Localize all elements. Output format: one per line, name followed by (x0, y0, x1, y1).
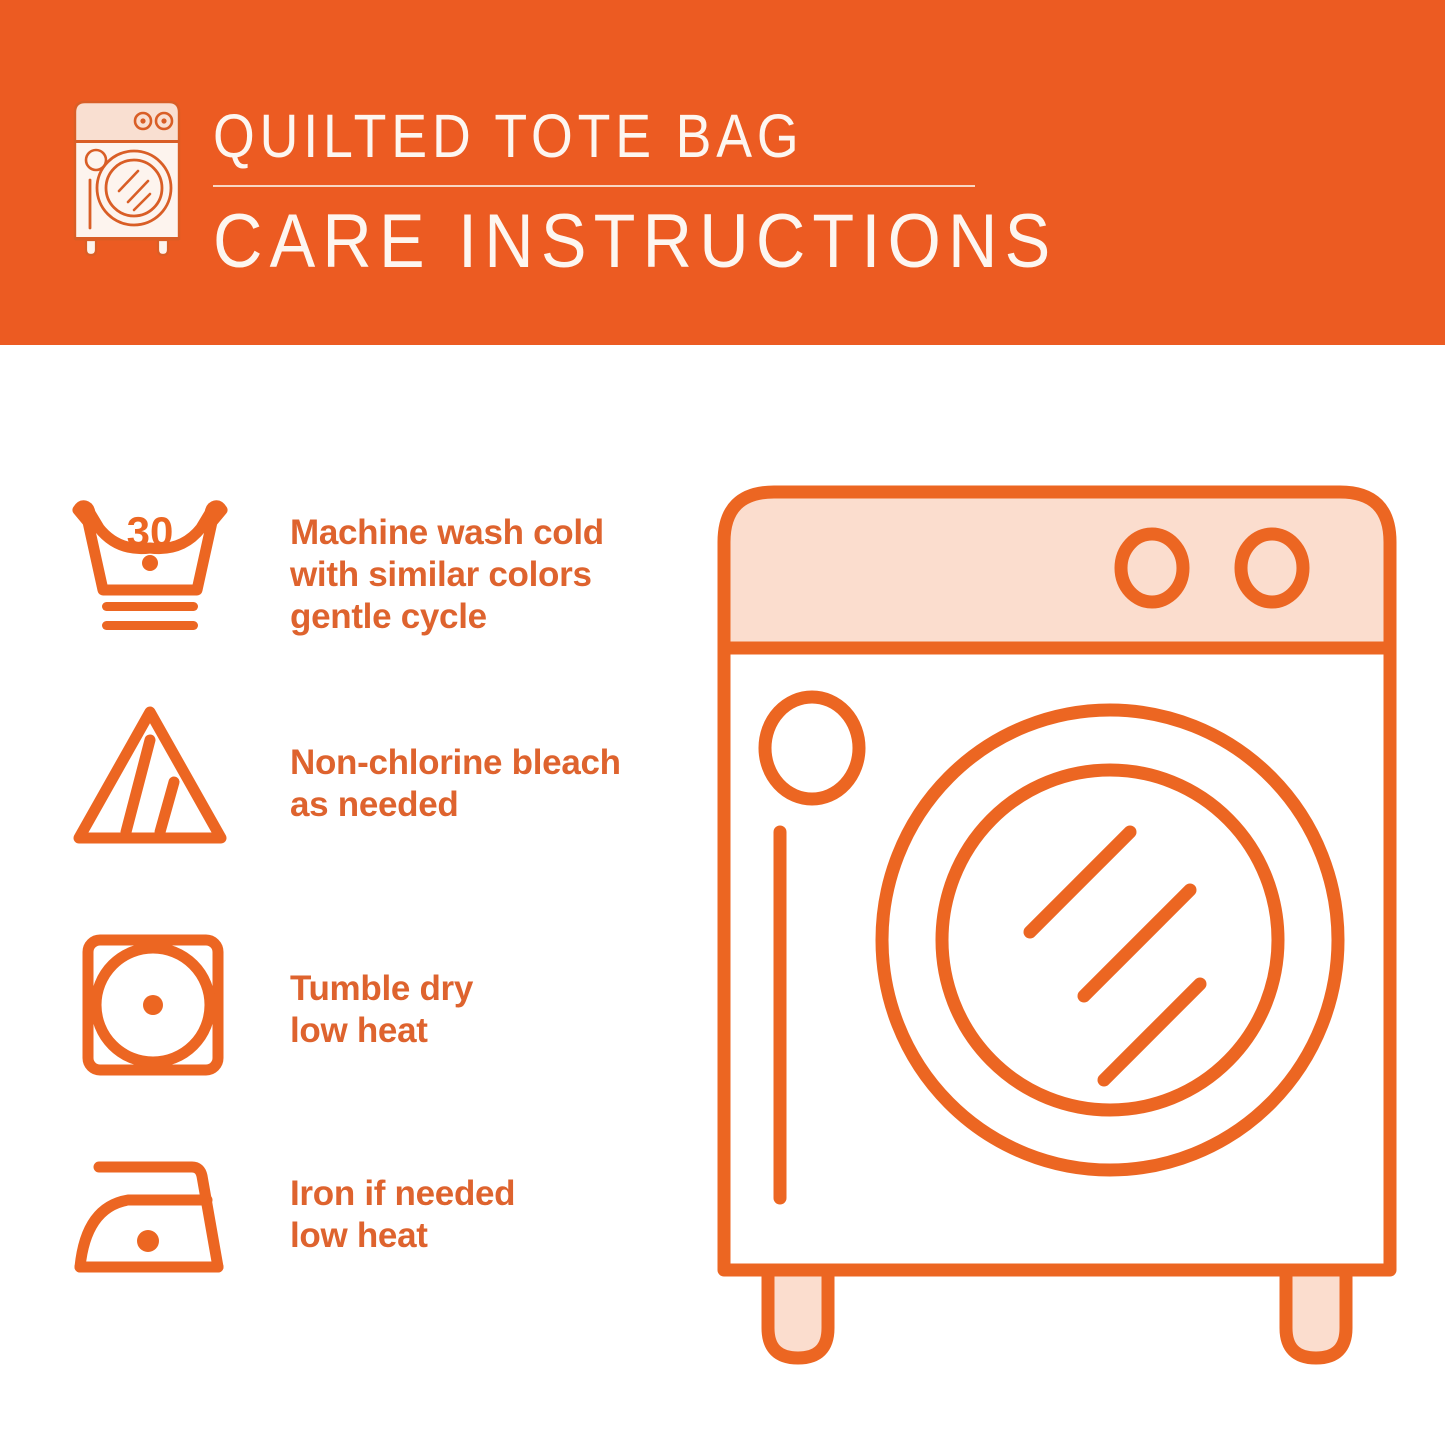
iron-low-heat-icon (66, 1145, 234, 1300)
washing-machine-illustration (712, 480, 1402, 1370)
title-divider (213, 185, 975, 187)
care-instruction-list: 30 Machine wash cold with similar colors… (0, 345, 700, 1445)
header-text-block: QUILTED TOTE BAG CARE INSTRUCTIONS (213, 100, 983, 284)
header-banner: QUILTED TOTE BAG CARE INSTRUCTIONS (0, 0, 1445, 345)
wash-temp-label: 30 (127, 508, 174, 555)
page-subtitle: CARE INSTRUCTIONS (213, 200, 906, 284)
washing-machine-icon (66, 98, 188, 256)
care-item-label: Machine wash cold with similar colors ge… (290, 512, 604, 638)
non-chlorine-bleach-triangle-icon (66, 700, 234, 855)
care-item-label: Iron if needed low heat (290, 1173, 515, 1257)
care-item-label: Tumble dry low heat (290, 968, 473, 1052)
care-item-label: Non-chlorine bleach as needed (290, 742, 621, 826)
tumble-dry-low-heat-icon (66, 930, 234, 1085)
page-title: QUILTED TOTE BAG (213, 100, 891, 172)
wash-tub-30-gentle-icon: 30 (66, 490, 234, 645)
